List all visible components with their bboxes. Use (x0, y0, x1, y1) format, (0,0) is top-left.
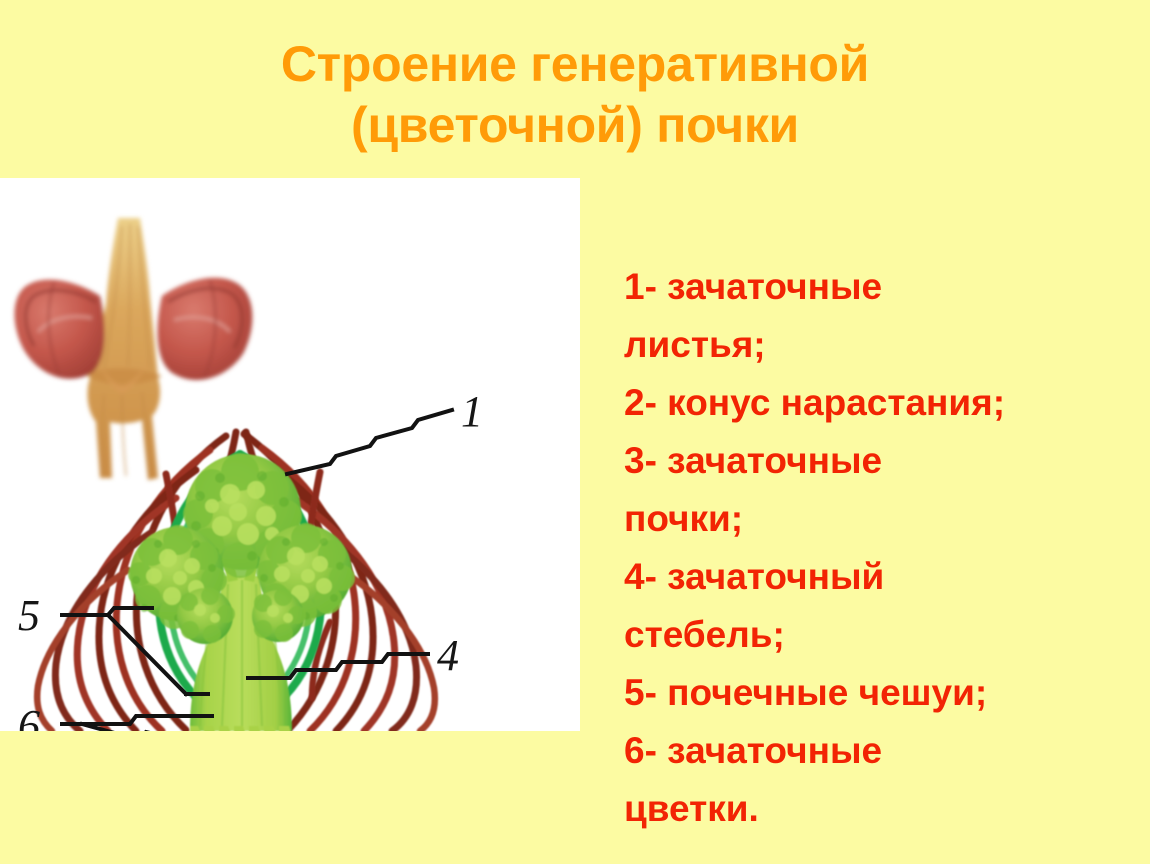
callout-label-6: 6 (18, 701, 40, 731)
slide-root: Строение генеративной (цветочной) почки (0, 0, 1150, 864)
callout-label-1: 1 (461, 387, 483, 436)
legend-item-3b: почки; (624, 490, 1124, 548)
legend-item-6b: цветки. (624, 780, 1124, 838)
legend-item-4a: 4- зачаточный (624, 548, 1124, 606)
legend-item-1a: 1- зачаточные (624, 258, 1124, 316)
legend-item-2: 2- конус нарастания; (624, 374, 1124, 432)
page-title: Строение генеративной (цветочной) почки (0, 34, 1150, 156)
bud-structure-diagram: 1 4 5 6 (0, 178, 580, 731)
callout-label-5: 5 (18, 591, 40, 640)
callout-label-4: 4 (437, 631, 459, 680)
legend-item-5: 5- почечные чешуи; (624, 664, 1124, 722)
legend-item-3a: 3- зачаточные (624, 432, 1124, 490)
legend-item-6a: 6- зачаточные (624, 722, 1124, 780)
legend-item-1b: листья; (624, 316, 1124, 374)
illustration-panel: 1 4 5 6 (0, 178, 580, 731)
legend-list: 1- зачаточные листья; 2- конус нарастани… (624, 258, 1124, 838)
legend-item-4b: стебель; (624, 606, 1124, 664)
